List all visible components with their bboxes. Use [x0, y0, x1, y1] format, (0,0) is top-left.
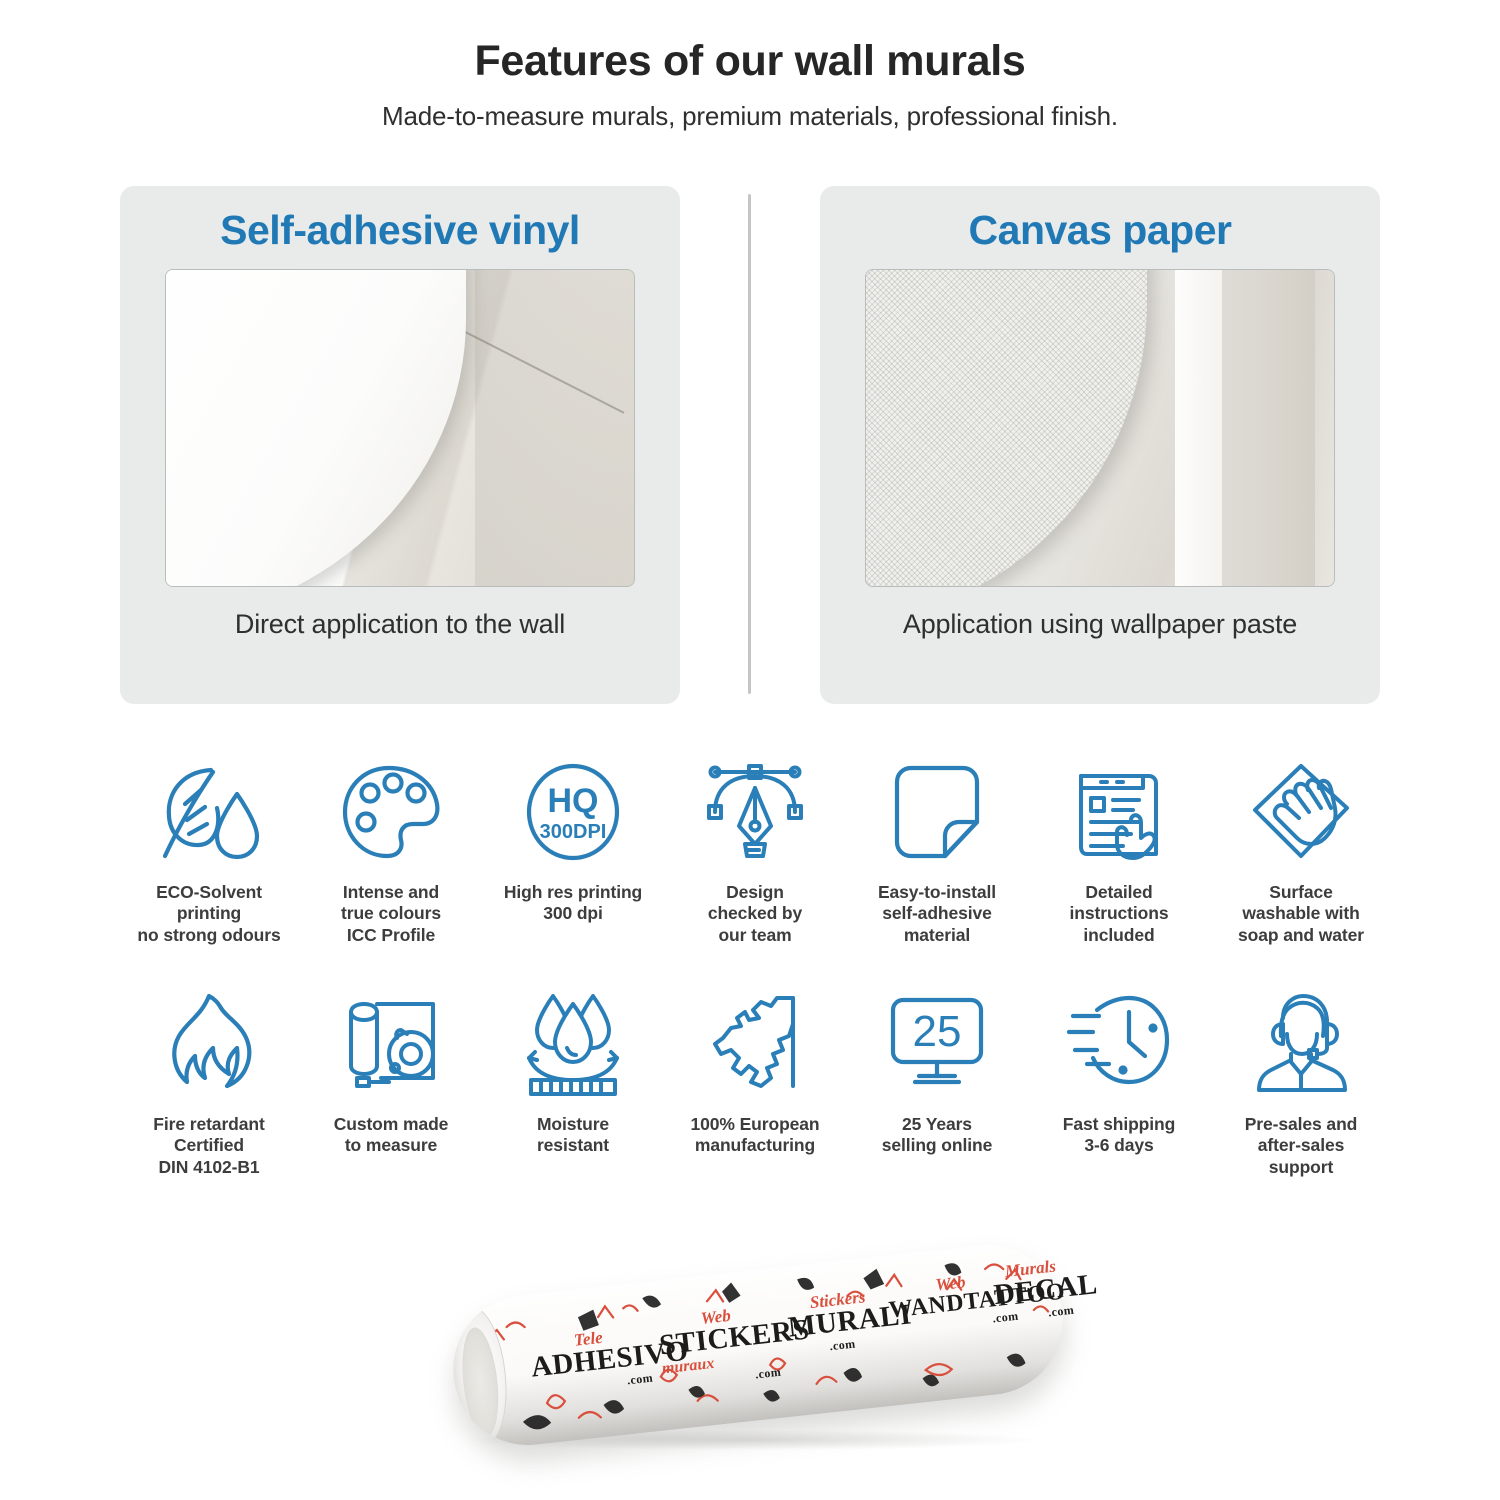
panel-title-canvas: Canvas paper: [969, 208, 1232, 253]
feature-custom-made: Custom madeto measure: [302, 984, 480, 1157]
feature-label: Surfacewashable withsoap and water: [1238, 882, 1364, 946]
panel-title-vinyl: Self-adhesive vinyl: [220, 208, 580, 253]
feature-european-manufacturing: 100% Europeanmanufacturing: [666, 984, 844, 1157]
feature-label: Fast shipping3-6 days: [1063, 1114, 1175, 1157]
feature-instructions: Detailedinstructionsincluded: [1030, 752, 1208, 946]
feature-label: Designchecked byour team: [708, 882, 802, 946]
paint-palette-icon: [337, 752, 445, 872]
tube-brand-stickersmurali: Stickers MURALI .com: [785, 1286, 895, 1358]
feature-label: High res printing300 dpi: [504, 882, 642, 925]
hand-wiping-cloth-icon: [1247, 752, 1355, 872]
photo-canvas-curl: [865, 269, 1335, 587]
photo-vinyl-peel: [165, 269, 635, 587]
feature-label: Easy-to-installself-adhesivematerial: [878, 882, 996, 946]
features-row-2: Fire retardantCertifiedDIN 4102-B1: [120, 984, 1390, 1178]
tube-brand-teleadhesivo: Tele ADHESIVO .com: [528, 1324, 654, 1398]
feature-label: Intense andtrue coloursICC Profile: [341, 882, 441, 946]
feature-high-res: HQ 300DPI High res printing300 dpi: [484, 752, 662, 925]
tube-brand-muralsdecal: Murals DECAL .com: [991, 1256, 1075, 1326]
flame-icon: [155, 984, 263, 1104]
feature-moisture-resistant: Moistureresistant: [484, 984, 662, 1157]
feature-washable: Surfacewashable withsoap and water: [1212, 752, 1390, 946]
feature-icc-colours: Intense andtrue coloursICC Profile: [302, 752, 480, 946]
svg-text:HQ: HQ: [548, 782, 599, 820]
panel-caption-vinyl: Direct application to the wall: [211, 607, 589, 642]
feature-label: 100% Europeanmanufacturing: [690, 1114, 819, 1157]
features-row-1: ECO-Solventprintingno strong odours Inte…: [120, 752, 1390, 946]
feature-label: Custom madeto measure: [334, 1114, 449, 1157]
water-drops-repellent-surface-icon: [519, 984, 627, 1104]
feature-sheet-page: Features of our wall murals Made-to-meas…: [0, 0, 1500, 1500]
feature-label: Fire retardantCertifiedDIN 4102-B1: [153, 1114, 264, 1178]
feature-easy-install: Easy-to-installself-adhesivematerial: [848, 752, 1026, 946]
page-title: Features of our wall murals: [0, 38, 1500, 85]
hq-300dpi-badge-icon: HQ 300DPI: [519, 752, 627, 872]
feature-label: Detailedinstructionsincluded: [1070, 882, 1169, 946]
feature-label: Pre-sales andafter-salessupport: [1245, 1114, 1358, 1178]
shipping-tube-section: Tele ADHESIVO .com Web STICKERS muraux .…: [0, 1248, 1500, 1498]
headset-support-agent-icon: [1247, 984, 1355, 1104]
feature-label: ECO-Solventprintingno strong odours: [137, 882, 280, 946]
feature-fast-shipping: Fast shipping3-6 days: [1030, 984, 1208, 1157]
feature-label: 25 Yearsselling online: [882, 1114, 992, 1157]
peeling-sticker-icon: [883, 752, 991, 872]
feature-label: Moistureresistant: [537, 1114, 609, 1157]
feature-25-years: 25 25 Yearsselling online: [848, 984, 1026, 1157]
svg-text:25: 25: [913, 1007, 962, 1056]
tube-brand-stickersmuraux: Web STICKERS muraux .com: [656, 1302, 782, 1392]
feature-eco-solvent: ECO-Solventprintingno strong odours: [120, 752, 298, 946]
svg-text:300DPI: 300DPI: [540, 821, 607, 843]
panel-self-adhesive-vinyl: Self-adhesive vinyl Direct application t…: [120, 186, 680, 704]
page-subtitle: Made-to-measure murals, premium material…: [0, 101, 1500, 132]
shipping-tube: Tele ADHESIVO .com Web STICKERS muraux .…: [446, 1237, 1071, 1452]
page-header: Features of our wall murals Made-to-meas…: [0, 0, 1500, 132]
instructions-hand-pointer-icon: [1065, 752, 1173, 872]
panel-caption-canvas: Application using wallpaper paste: [879, 607, 1321, 642]
panel-canvas-paper: Canvas paper Application using wallpaper…: [820, 186, 1380, 704]
panel-divider: [748, 194, 751, 694]
feature-support: Pre-sales andafter-salessupport: [1212, 984, 1390, 1178]
monitor-25-icon: 25: [883, 984, 991, 1104]
material-comparison-section: Self-adhesive vinyl Direct application t…: [0, 186, 1500, 706]
roll-measuring-tape-icon: [337, 984, 445, 1104]
features-grid: ECO-Solventprintingno strong odours Inte…: [120, 752, 1390, 1178]
feature-fire-retardant: Fire retardantCertifiedDIN 4102-B1: [120, 984, 298, 1178]
fast-clock-icon: [1065, 984, 1173, 1104]
feature-design-checked: Designchecked byour team: [666, 752, 844, 946]
leaf-water-drop-icon: [155, 752, 263, 872]
europe-map-icon: [701, 984, 809, 1104]
pen-tool-bezier-icon: [701, 752, 809, 872]
